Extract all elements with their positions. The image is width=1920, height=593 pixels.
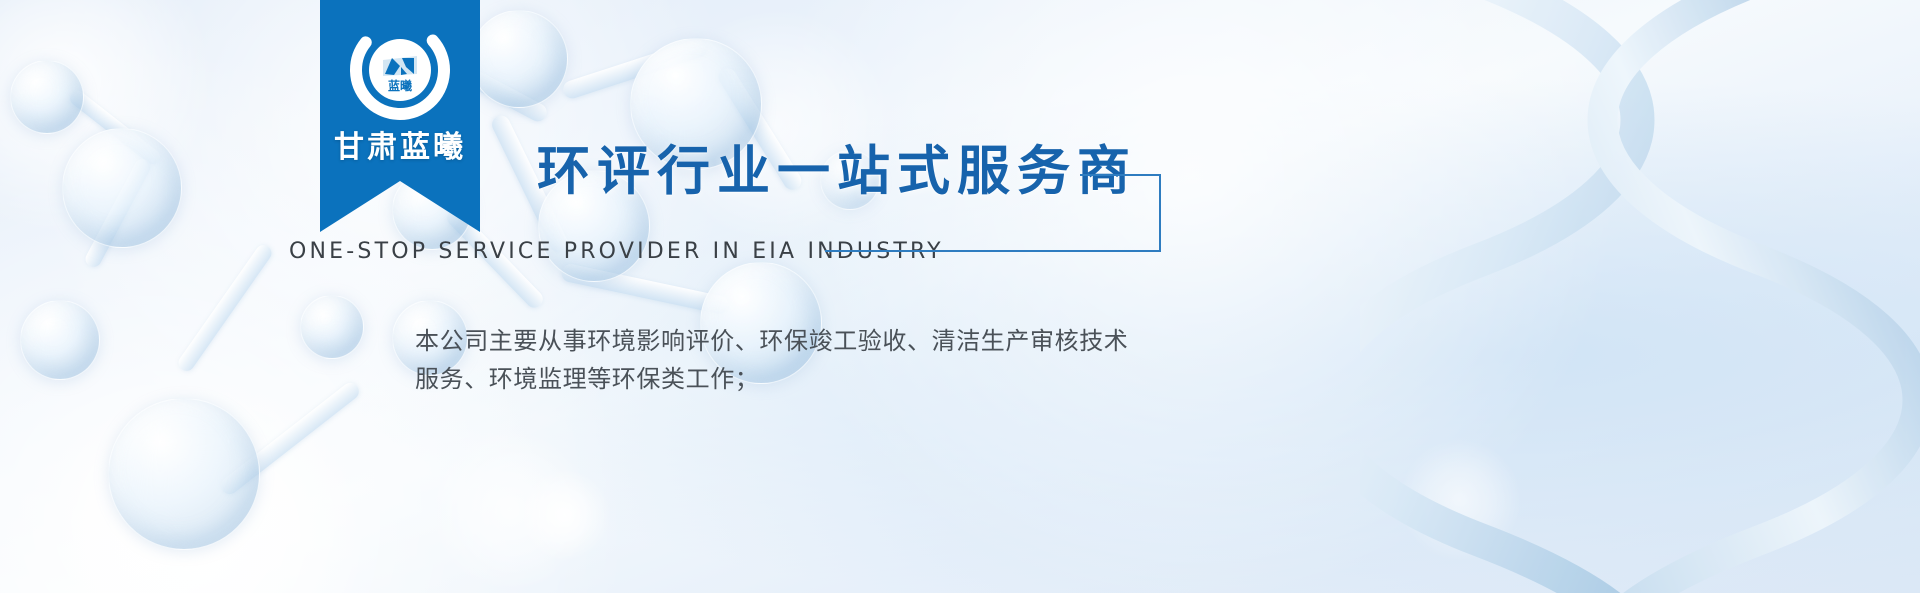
headline-title: 环评行业一站式服务商 xyxy=(537,141,1137,201)
connector-line-vertical xyxy=(1159,174,1161,252)
badge-company-name: 甘肃蓝曦 xyxy=(320,122,480,166)
promo-banner: 蓝曦 甘肃蓝曦 环评行业一站式服务商 ONE-STOP SERVICE PROV… xyxy=(0,0,1920,593)
svg-text:蓝曦: 蓝曦 xyxy=(388,78,412,93)
lanxi-circle-logo-icon: 蓝曦 xyxy=(344,14,456,126)
connector-line-horizontal xyxy=(825,250,1161,252)
banner-description: 本公司主要从事环境影响评价、环保竣工验收、清洁生产审核技术 服务、环境监理等环保… xyxy=(415,322,1235,398)
connector-line-top xyxy=(1080,174,1161,176)
description-line-1: 本公司主要从事环境影响评价、环保竣工验收、清洁生产审核技术 xyxy=(415,322,1235,360)
dna-double-helix-illustration xyxy=(1360,0,1920,593)
company-ribbon-badge: 蓝曦 甘肃蓝曦 xyxy=(320,0,480,232)
description-line-2: 服务、环境监理等环保类工作； xyxy=(415,360,1235,398)
